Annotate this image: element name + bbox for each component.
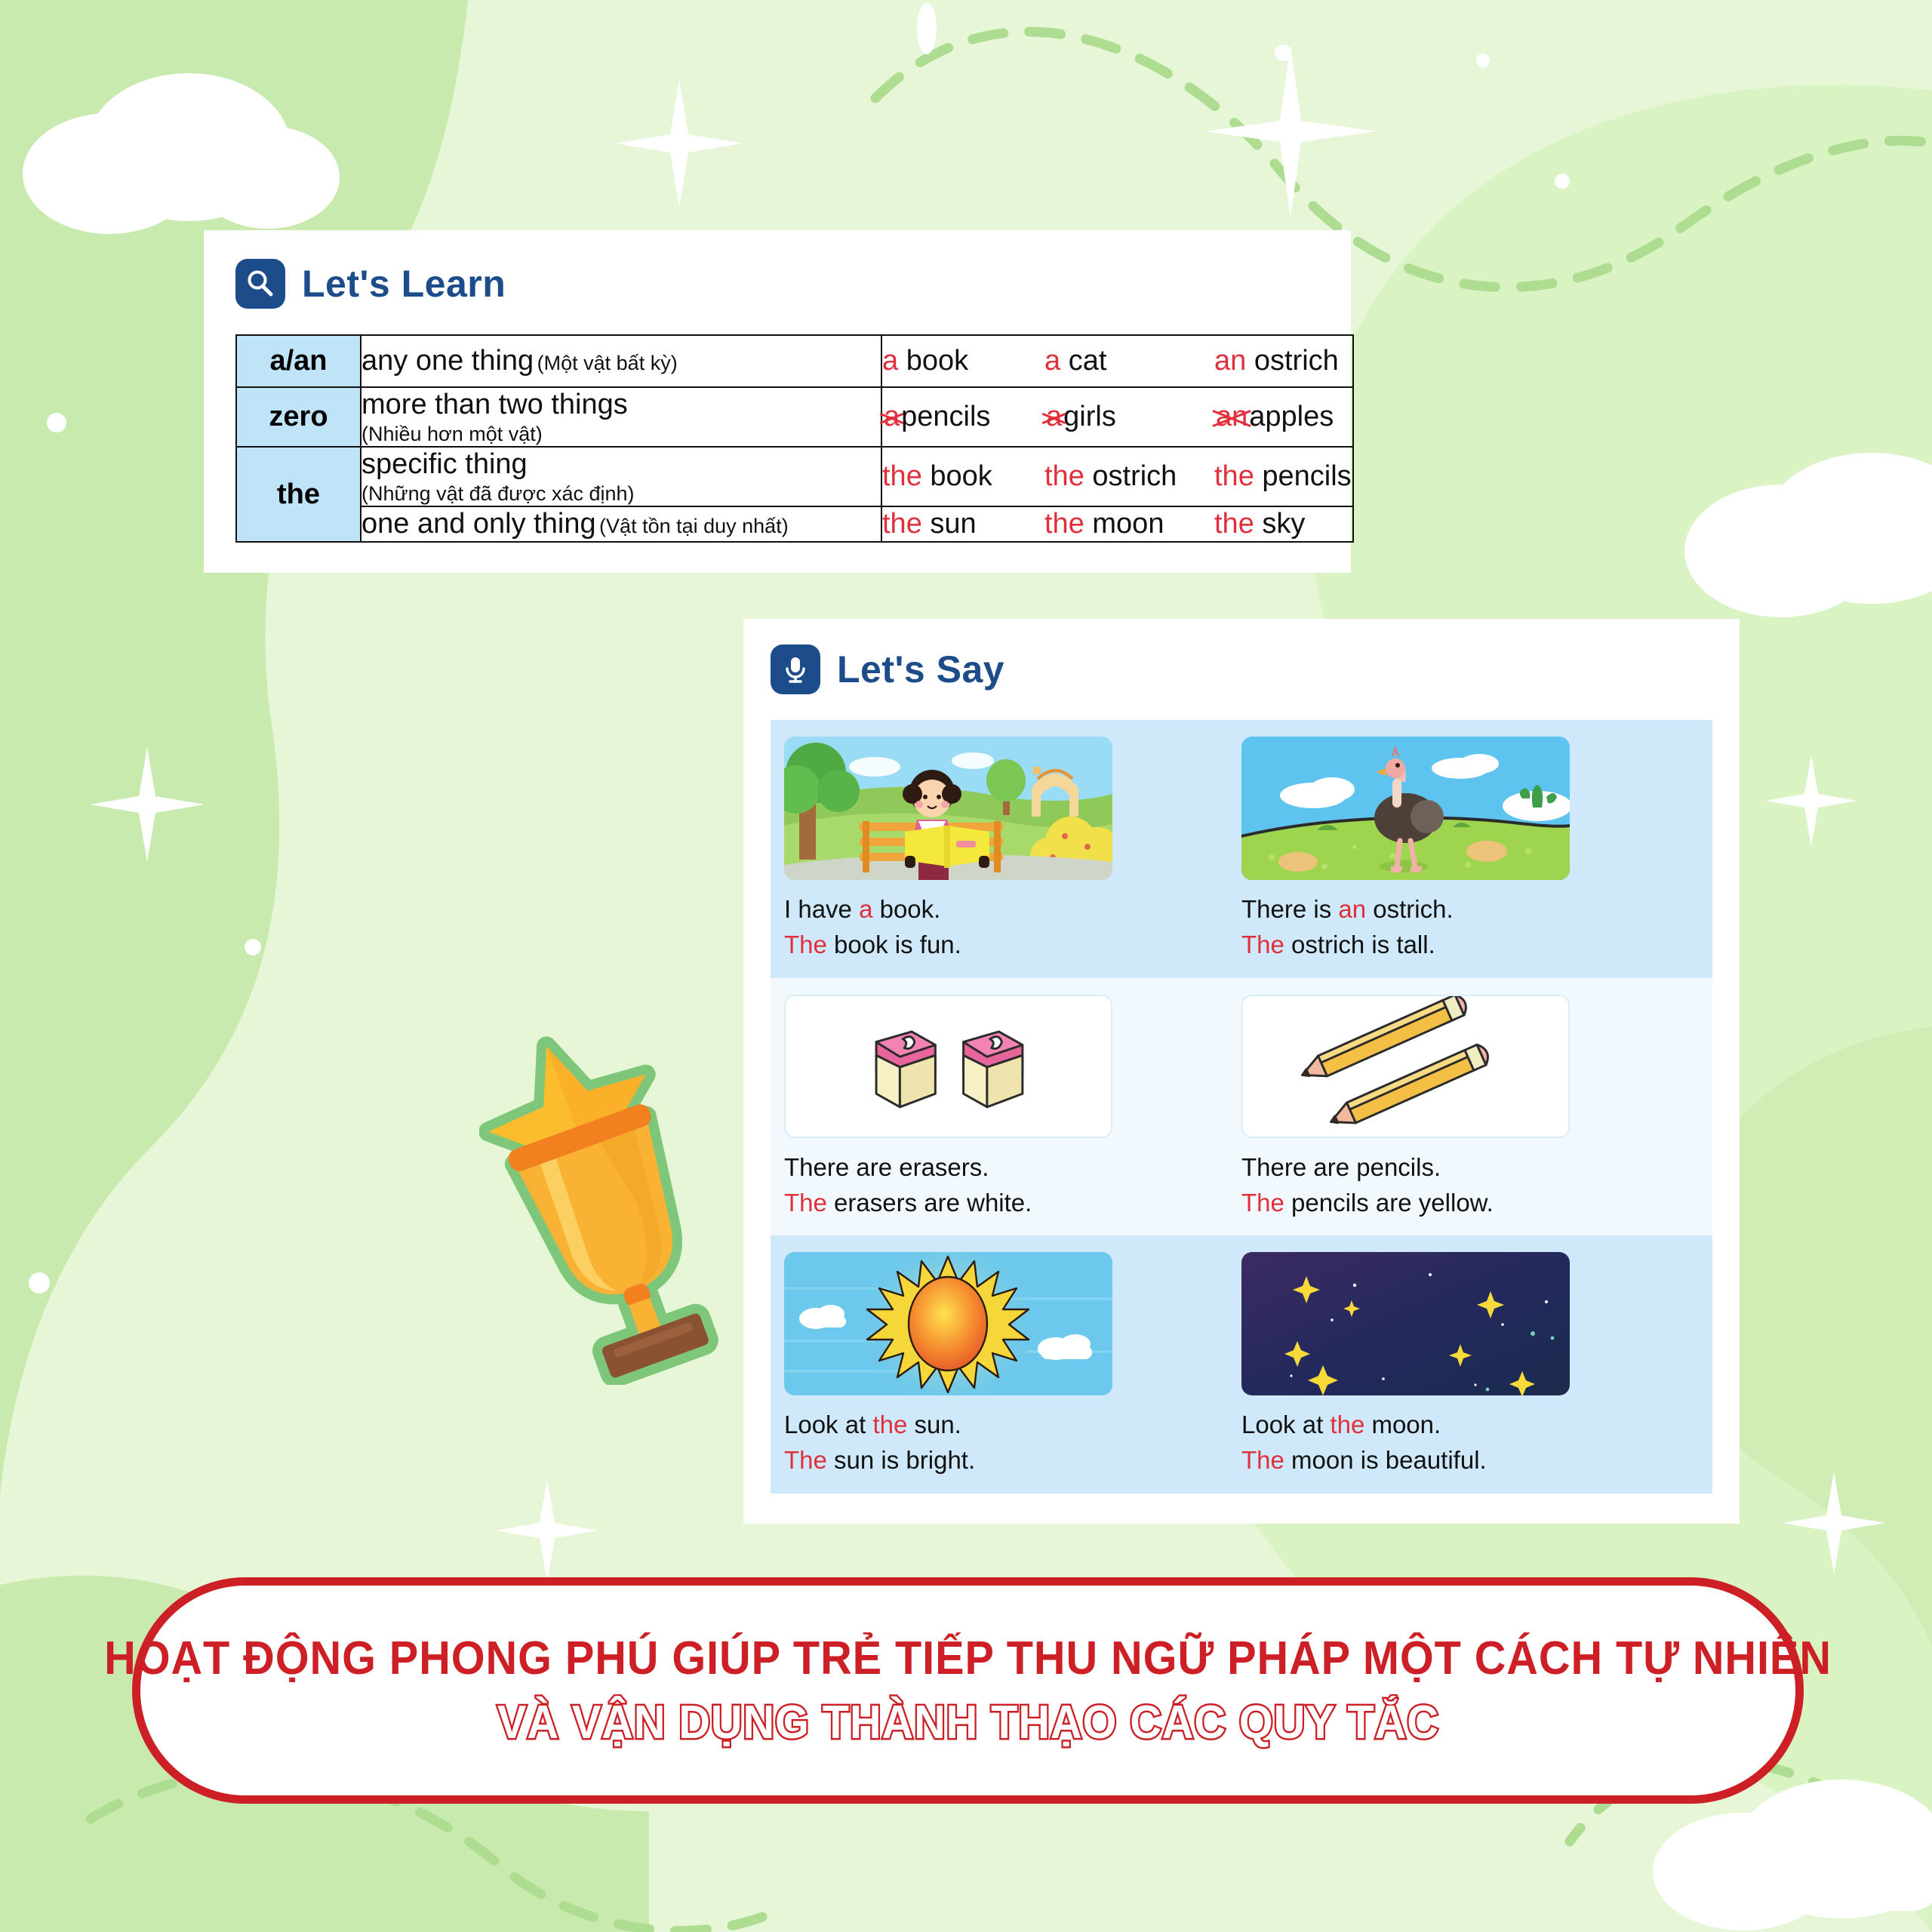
examples-cell: apencils agirls anapples [881, 387, 1353, 447]
table-row: a/an any one thing (Một vật bất kỳ) a bo… [236, 335, 1353, 387]
sentence-card[interactable]: Look at the sun. The sun is bright. [784, 1252, 1241, 1478]
banner-line-1: HOẠT ĐỘNG PHONG PHÚ GIÚP TRẺ TIẾP THU NG… [104, 1632, 1832, 1685]
card-caption: There are pencils. The pencils are yello… [1241, 1150, 1679, 1221]
article-cell: zero [236, 387, 361, 447]
card-caption: Look at the sun. The sun is bright. [784, 1407, 1222, 1478]
lets-say-title: Let's Say [837, 648, 1004, 691]
article-rules-table: a/an any one thing (Một vật bất kỳ) a bo… [235, 334, 1354, 543]
article-cell: the [236, 447, 361, 542]
sun-illustration [784, 1252, 1112, 1395]
example-item: anapples [1214, 401, 1334, 433]
description-cell: one and only thing (Vật tồn tại duy nhất… [361, 506, 881, 542]
example-item: apencils [882, 401, 1044, 433]
sentence-card[interactable]: There are erasers. The erasers are white… [784, 995, 1241, 1221]
sentence-card[interactable]: Look at the moon. The moon is beautiful. [1241, 1252, 1699, 1478]
example-item: the pencils [1214, 460, 1352, 493]
example-item: the sun [882, 508, 1044, 540]
two-erasers-illustration [784, 995, 1112, 1138]
sentence-card[interactable]: I have a book. The book is fun. [784, 737, 1241, 963]
girl-reading-book-illustration [784, 737, 1112, 880]
banner-line-2: VÀ VẬN DỤNG THÀNH THẠO CÁC QUY TẮC [497, 1696, 1439, 1749]
desc-en: any one thing [361, 345, 534, 377]
lets-say-header: Let's Say [771, 645, 1712, 694]
card-caption: There are erasers. The erasers are white… [784, 1150, 1222, 1221]
desc-vi: (Những vật đã được xác định) [361, 481, 881, 506]
desc-en: more than two things [361, 388, 881, 422]
say-row: I have a book. The book is fun. [771, 720, 1712, 978]
trophy-with-star-icon [479, 1023, 728, 1389]
sentence-card[interactable]: There are pencils. The pencils are yello… [1241, 995, 1699, 1221]
card-caption: There is an ostrich. The ostrich is tall… [1241, 892, 1679, 963]
description-cell: any one thing (Một vật bất kỳ) [361, 335, 881, 387]
description-cell: specific thing (Những vật đã được xác đị… [361, 447, 881, 506]
examples-cell: the book the ostrich the pencils [881, 447, 1353, 506]
example-item: agirls [1044, 401, 1214, 433]
microphone-icon [771, 645, 820, 694]
lets-learn-title: Let's Learn [302, 262, 506, 306]
moon-night-sky-illustration [1241, 1252, 1570, 1395]
desc-en: specific thing [361, 448, 881, 481]
ostrich-illustration [1241, 737, 1570, 880]
desc-en: one and only thing [361, 508, 596, 540]
example-item: a cat [1044, 345, 1214, 377]
article-cell: a/an [236, 335, 361, 387]
desc-vi: (Một vật bất kỳ) [537, 352, 678, 374]
lets-learn-panel: Let's Learn a/an any one thing (Một vật … [204, 230, 1351, 573]
sentence-card[interactable]: There is an ostrich. The ostrich is tall… [1241, 737, 1699, 963]
lets-learn-header: Let's Learn [235, 259, 1319, 309]
two-pencils-illustration [1241, 995, 1570, 1138]
example-item: the sky [1214, 508, 1305, 540]
sentence-card-grid: I have a book. The book is fun. [771, 720, 1712, 1494]
table-row: the specific thing (Những vật đã được xá… [236, 447, 1353, 506]
example-item: the book [882, 460, 1044, 493]
desc-vi: (Nhiều hơn một vật) [361, 422, 881, 446]
description-cell: more than two things (Nhiều hơn một vật) [361, 387, 881, 447]
desc-vi: (Vật tồn tại duy nhất) [599, 515, 789, 537]
card-caption: Look at the moon. The moon is beautiful. [1241, 1407, 1679, 1478]
example-item: the moon [1044, 508, 1214, 540]
bottom-banner: HOẠT ĐỘNG PHONG PHÚ GIÚP TRẺ TIẾP THU NG… [132, 1577, 1804, 1804]
card-caption: I have a book. The book is fun. [784, 892, 1222, 963]
say-row: There are erasers. The erasers are white… [771, 978, 1712, 1236]
examples-cell: the sun the moon the sky [881, 506, 1353, 542]
table-row: one and only thing (Vật tồn tại duy nhất… [236, 506, 1353, 542]
lets-say-panel: Let's Say [743, 619, 1740, 1524]
example-item: a book [882, 345, 1044, 377]
examples-cell: a book a cat an ostrich [881, 335, 1353, 387]
table-row: zero more than two things (Nhiều hơn một… [236, 387, 1353, 447]
example-item: an ostrich [1214, 345, 1339, 377]
example-item: the ostrich [1044, 460, 1214, 493]
magnifier-icon [235, 259, 285, 309]
say-row: Look at the sun. The sun is bright. [771, 1235, 1712, 1494]
